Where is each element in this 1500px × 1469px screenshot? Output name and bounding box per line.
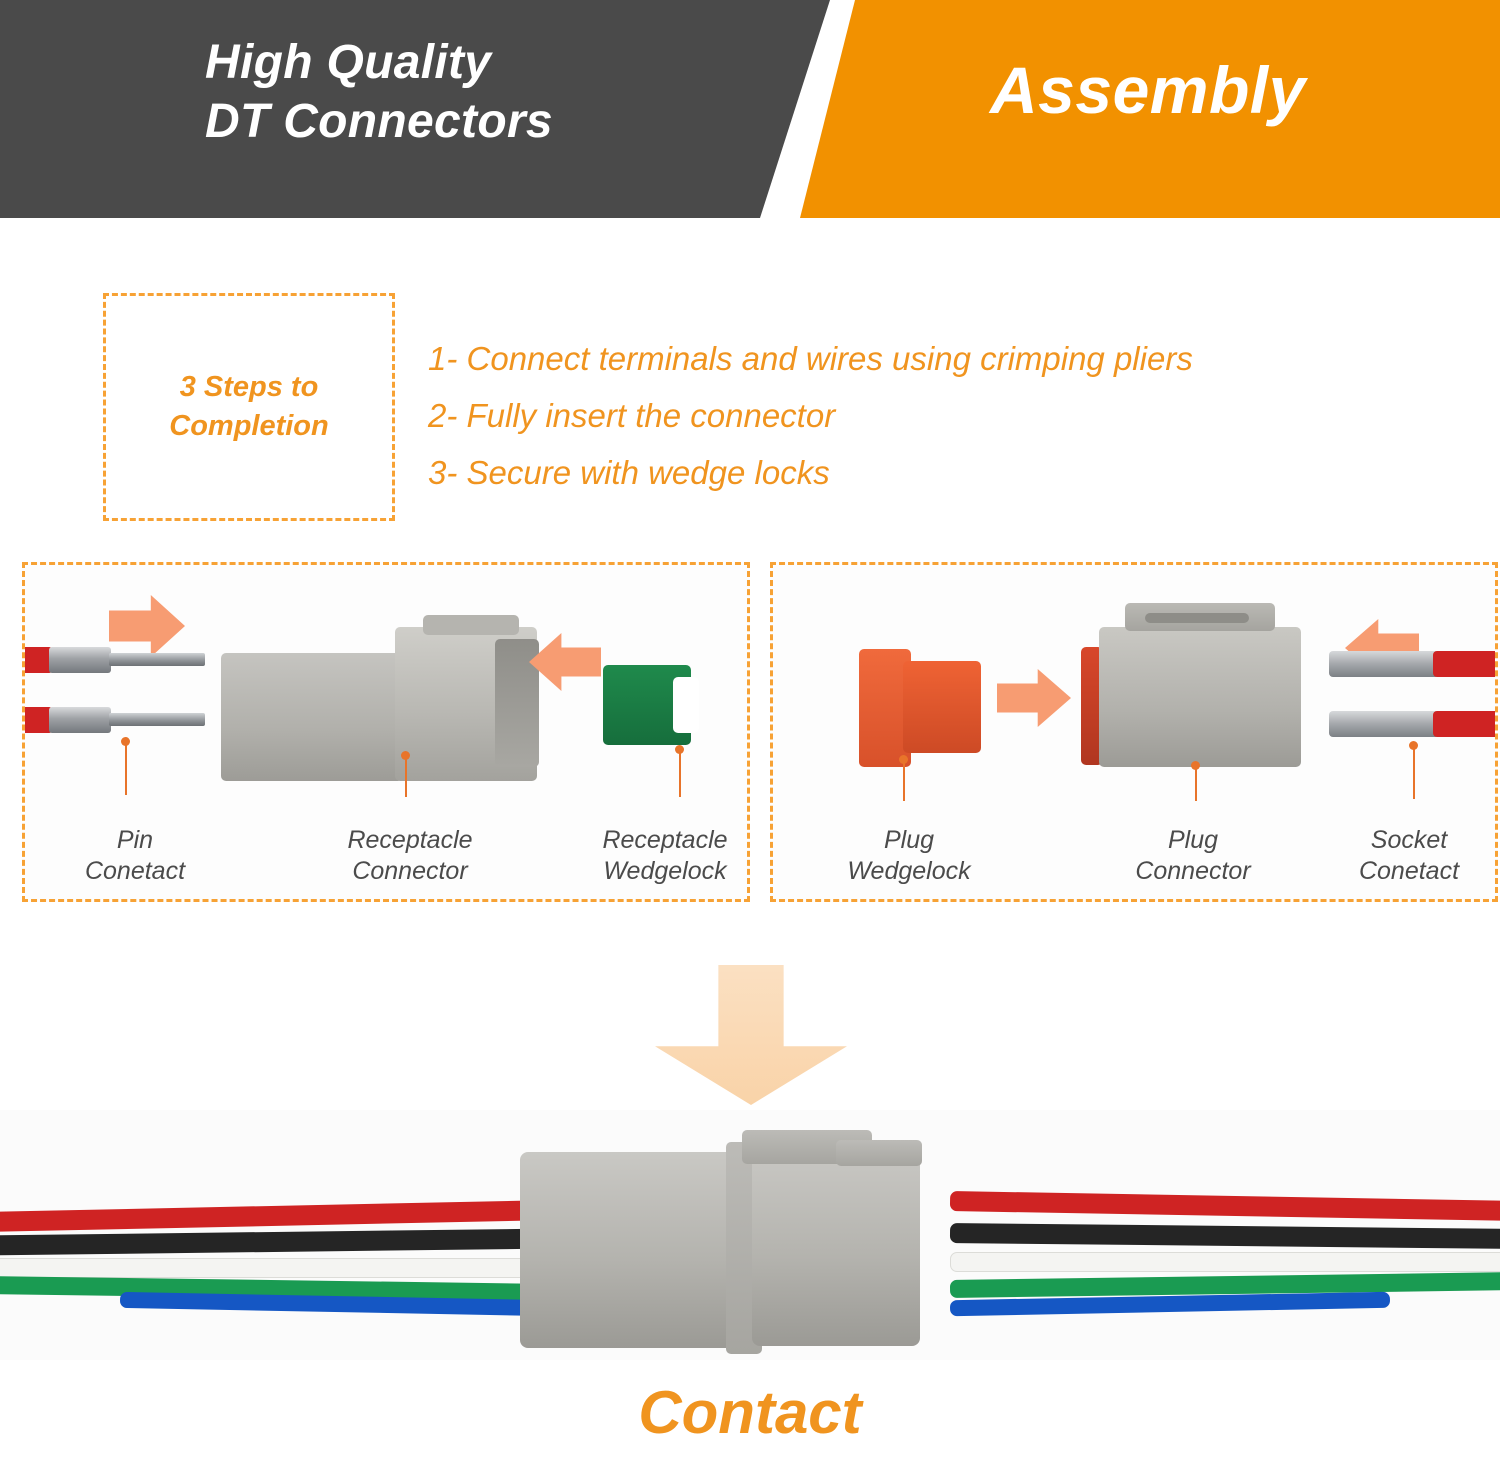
- steps-list: 1- Connect terminals and wires using cri…: [428, 330, 1488, 501]
- socket-contact-1: [1329, 651, 1439, 677]
- socket-wire-2: [1433, 711, 1495, 737]
- caption-line1: Receptacle: [565, 825, 747, 856]
- leader-line-socket: [1413, 745, 1415, 799]
- plug-panel-art: Plug Wedgelock Plug Connector Socket Con…: [773, 565, 1495, 899]
- steps-count-label: 3 Steps to Completion: [169, 368, 329, 446]
- leader-line-pin: [125, 741, 127, 795]
- caption-receptacle-wedgelock: Receptacle Wedgelock: [565, 825, 747, 888]
- receptacle-body-rear: [221, 653, 403, 781]
- receptacle-wedgelock-slot: [673, 677, 699, 733]
- socket-contact-2: [1329, 711, 1439, 737]
- wire-white-right: [950, 1252, 1500, 1272]
- steps-count-box: 3 Steps to Completion: [103, 293, 395, 521]
- connector-latch-tab: [836, 1140, 922, 1166]
- plug-connector-body: [1099, 627, 1301, 767]
- steps-count-line1: 3 Steps to: [169, 368, 329, 407]
- leader-line-plug-connector: [1195, 765, 1197, 801]
- page-title-line1: High Quality: [205, 34, 805, 93]
- arrow-right-icon: [997, 669, 1071, 727]
- caption-line1: Plug: [813, 825, 1005, 856]
- socket-wire-1: [1433, 651, 1495, 677]
- step-item-1: 1- Connect terminals and wires using cri…: [428, 330, 1488, 387]
- caption-line2: Connector: [305, 856, 515, 887]
- caption-line2: Conetact: [55, 856, 215, 887]
- assembled-connector-photo: [0, 1110, 1500, 1360]
- plug-connector-latch-slot: [1145, 613, 1249, 623]
- caption-line2: Connector: [1095, 856, 1291, 887]
- arrow-down-icon: [655, 965, 847, 1105]
- caption-line1: Plug: [1095, 825, 1291, 856]
- receptacle-panel: Pin Conetact Receptacle Connector Recept…: [22, 562, 750, 902]
- caption-line2: Wedgelock: [813, 856, 1005, 887]
- wire-black-left: [0, 1229, 550, 1256]
- plug-panel: Plug Wedgelock Plug Connector Socket Con…: [770, 562, 1498, 902]
- pin-barrel-1: [49, 647, 111, 673]
- footer-label: Contact: [0, 1378, 1500, 1447]
- wire-white-left: [0, 1258, 550, 1278]
- leader-line-plug-wedgelock: [903, 759, 905, 801]
- steps-count-line2: Completion: [169, 407, 329, 446]
- receptacle-latch: [423, 615, 519, 635]
- caption-plug-wedgelock: Plug Wedgelock: [813, 825, 1005, 888]
- caption-line2: Conetact: [1319, 856, 1495, 887]
- receptacle-face: [495, 639, 539, 767]
- page-title: High Quality DT Connectors: [205, 34, 805, 151]
- wire-black-right: [950, 1223, 1500, 1249]
- receptacle-panel-art: Pin Conetact Receptacle Connector Recept…: [25, 565, 747, 899]
- caption-line2: Wedgelock: [565, 856, 747, 887]
- caption-line1: Socket: [1319, 825, 1495, 856]
- pin-contact-1: [109, 653, 205, 666]
- leader-line-wedgelock: [679, 749, 681, 797]
- wire-red-left: [0, 1200, 550, 1232]
- plug-wedgelock-body: [903, 661, 981, 753]
- connector-shell-left: [520, 1152, 740, 1348]
- leader-line-receptacle: [405, 755, 407, 797]
- caption-plug-connector: Plug Connector: [1095, 825, 1291, 888]
- caption-pin-contact: Pin Conetact: [55, 825, 215, 888]
- page-title-line2: DT Connectors: [205, 93, 805, 152]
- pin-contact-2: [109, 713, 205, 726]
- pin-barrel-2: [49, 707, 111, 733]
- step-item-2: 2- Fully insert the connector: [428, 387, 1488, 444]
- caption-socket-contact: Socket Conetact: [1319, 825, 1495, 888]
- caption-receptacle-connector: Receptacle Connector: [305, 825, 515, 888]
- wire-red-right: [950, 1191, 1500, 1221]
- caption-line1: Pin: [55, 825, 215, 856]
- arrow-right-icon: [109, 595, 185, 657]
- arrow-left-icon: [529, 633, 601, 691]
- assembly-badge: Assembly: [990, 52, 1306, 128]
- caption-line1: Receptacle: [305, 825, 515, 856]
- infographic-page: High Quality DT Connectors Assembly 3 St…: [0, 0, 1500, 1469]
- header-banner: High Quality DT Connectors Assembly: [0, 0, 1500, 218]
- step-item-3: 3- Secure with wedge locks: [428, 444, 1488, 501]
- connector-shell-right: [752, 1148, 920, 1346]
